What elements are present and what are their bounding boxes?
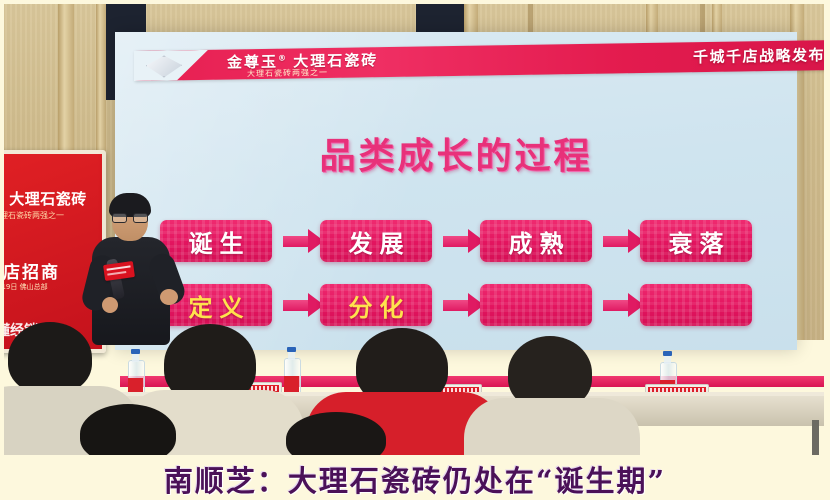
stage-cell-label: 衰落 bbox=[662, 224, 731, 259]
audience-head bbox=[80, 404, 176, 455]
presenter-glasses bbox=[112, 213, 148, 221]
projection-screen: 金尊玉® 大理石瓷砖 大理石瓷砖两强之一 千城千店战略发布 品类成长的过程 诞生… bbox=[115, 32, 797, 350]
action-cell-label: 分化 bbox=[342, 288, 411, 323]
right-arrow-icon bbox=[592, 221, 640, 261]
audience-shoulders bbox=[464, 398, 640, 455]
diamond-logo-icon bbox=[146, 55, 180, 76]
stage-cell-label: 诞生 bbox=[182, 224, 251, 259]
right-arrow-icon bbox=[432, 285, 480, 325]
frame-border-right bbox=[824, 0, 830, 500]
stage-cell-label: 成熟 bbox=[502, 224, 571, 259]
table-leg bbox=[812, 420, 819, 455]
frame-border-top bbox=[0, 0, 830, 4]
stage-cell: 成熟 bbox=[480, 220, 592, 262]
presenter-hand-left bbox=[102, 297, 118, 313]
growth-stage-row: 诞生 发展 成熟 衰落 bbox=[115, 220, 797, 262]
frame-border-left bbox=[0, 0, 4, 500]
audience-head bbox=[8, 322, 92, 394]
brand-registered-icon: ® bbox=[278, 54, 286, 63]
stage-cell: 衰落 bbox=[640, 220, 752, 262]
right-arrow-icon bbox=[432, 221, 480, 261]
right-arrow-icon bbox=[272, 285, 320, 325]
presenter-speaker bbox=[86, 193, 178, 345]
brand-subtitle: 大理石瓷砖两强之一 bbox=[247, 67, 328, 79]
action-cell-empty bbox=[480, 284, 592, 326]
slide-slogan: 千城千店战略发布 bbox=[693, 44, 825, 67]
action-cell-empty bbox=[640, 284, 752, 326]
stage-cell: 发展 bbox=[320, 220, 432, 262]
right-arrow-icon bbox=[272, 221, 320, 261]
action-cell: 分化 bbox=[320, 284, 432, 326]
action-cell-label: 定义 bbox=[182, 288, 251, 323]
screenshot-root: 玉 大理石瓷砖 大理石瓷砖两强之一 千店招商 9月19日 佛山总部 更懂经销商 … bbox=[0, 0, 830, 500]
presenter-hand-right bbox=[160, 289, 178, 305]
slide-title: 品类成长的过程 bbox=[115, 127, 797, 179]
stage-cell-label: 发展 bbox=[342, 224, 411, 259]
category-action-row: 定义 分化 bbox=[115, 284, 797, 326]
conference-photo: 玉 大理石瓷砖 大理石瓷砖两强之一 千店招商 9月19日 佛山总部 更懂经销商 … bbox=[0, 0, 830, 455]
right-arrow-icon bbox=[592, 285, 640, 325]
caption-text: 南顺芝：大理石瓷砖仍处在“诞生期” bbox=[0, 458, 830, 500]
